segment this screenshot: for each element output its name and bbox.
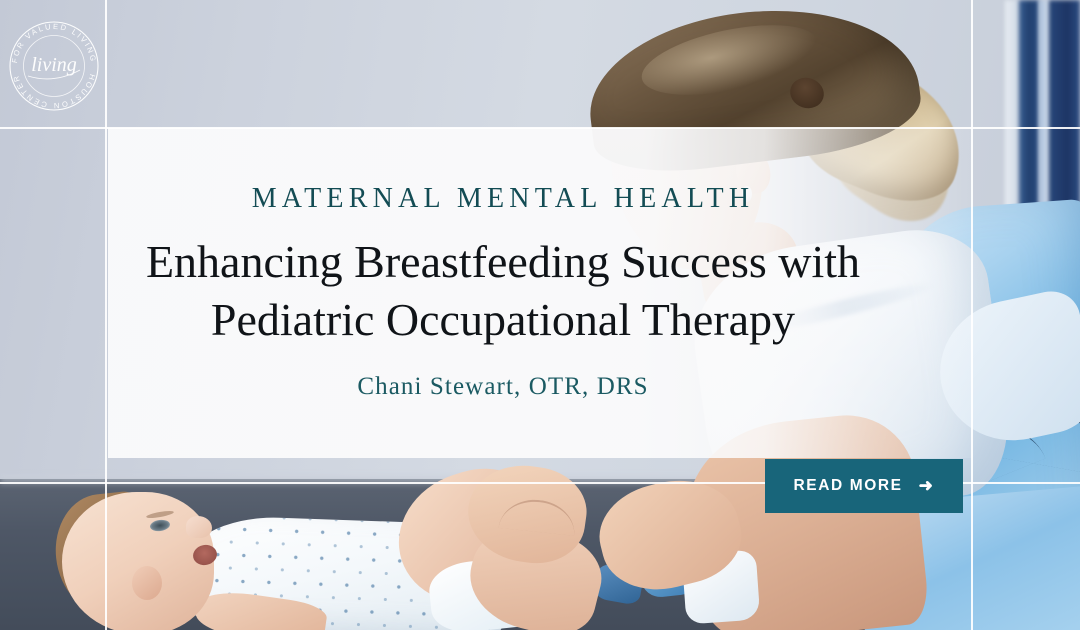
logo-script-word: living — [31, 54, 77, 76]
page-title: Enhancing Breastfeeding Success with Ped… — [146, 233, 860, 351]
author-byline: Chani Stewart, OTR, DRS — [357, 372, 648, 402]
photo-baby-nose — [186, 516, 212, 538]
read-more-button[interactable]: READ MORE ➜ — [765, 459, 963, 513]
hero-text-block: MATERNAL MENTAL HEALTH Enhancing Breastf… — [108, 128, 898, 458]
headline-line-1: Enhancing Breastfeeding Success with — [146, 236, 860, 287]
hero-eyebrow-category: MATERNAL MENTAL HEALTH — [252, 184, 755, 215]
brand-logo-stamp[interactable]: FOR VALUED LIVING HOUSTON CENTER living — [6, 18, 102, 114]
photo-baby-head — [62, 492, 214, 630]
frame-line-vertical-left — [105, 0, 107, 630]
arrow-right-icon: ➜ — [919, 477, 935, 494]
headline-line-2: Pediatric Occupational Therapy — [211, 294, 795, 345]
photo-baby-ear — [132, 566, 162, 600]
frame-line-vertical-right — [971, 0, 973, 630]
read-more-label: READ MORE — [794, 477, 903, 495]
blog-hero-banner: FOR VALUED LIVING HOUSTON CENTER living … — [0, 0, 1080, 630]
